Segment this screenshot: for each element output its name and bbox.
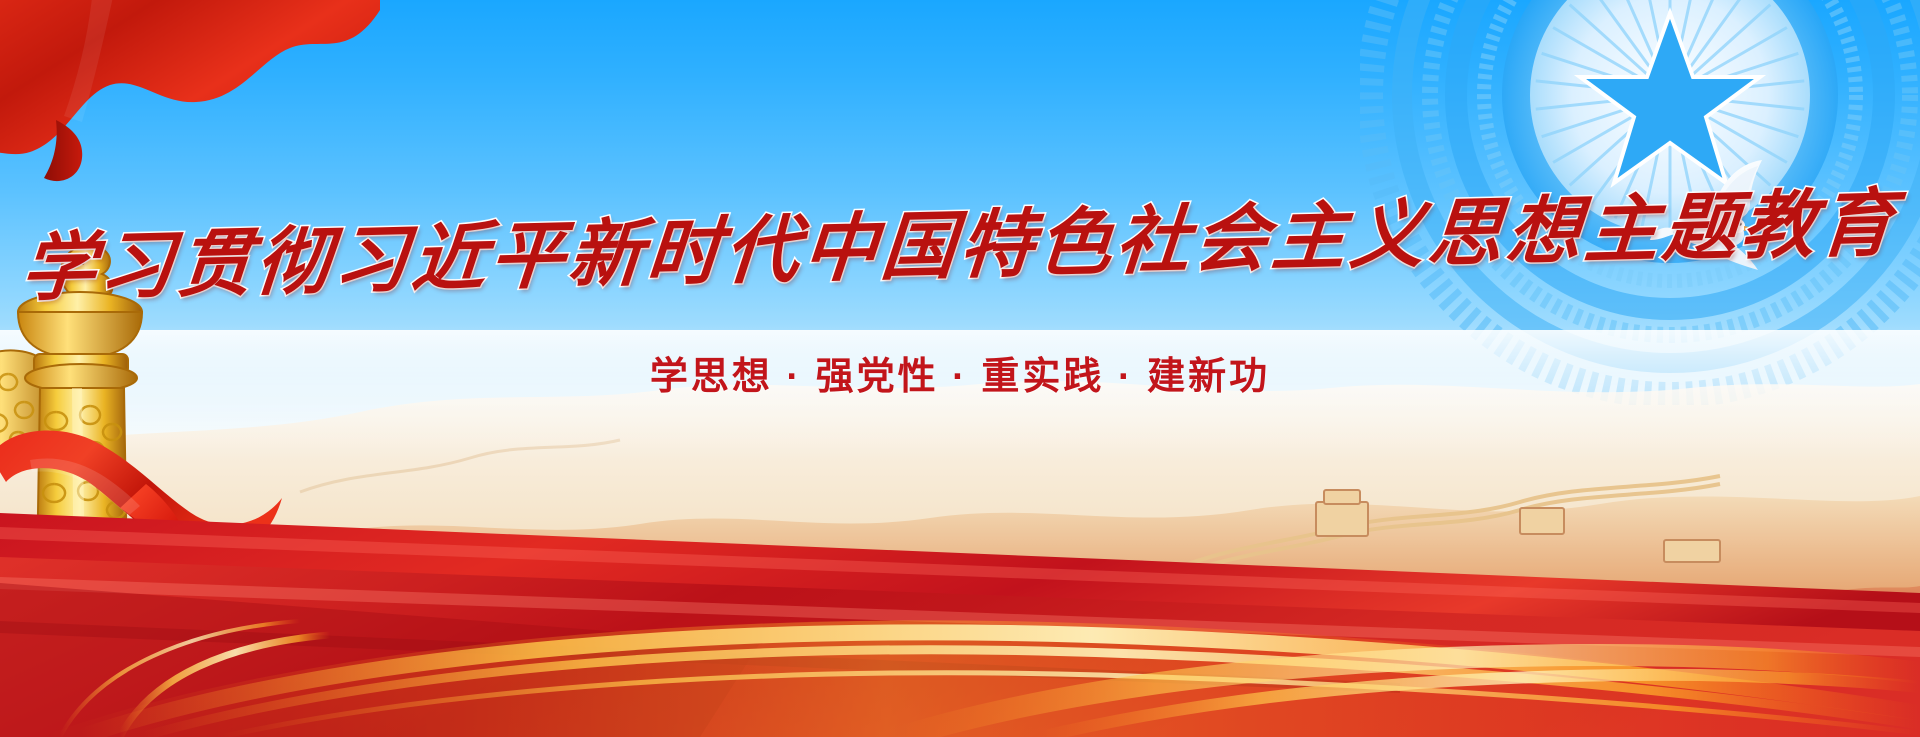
golden-light-streaks-icon (0, 407, 1920, 737)
poster-banner: 学习贯彻习近平新时代中国特色社会主义思想主题教育 学思想 · 强党性 · 重实践… (0, 0, 1920, 737)
white-dove-icon (1650, 160, 1780, 270)
red-flag-icon (0, 0, 380, 190)
